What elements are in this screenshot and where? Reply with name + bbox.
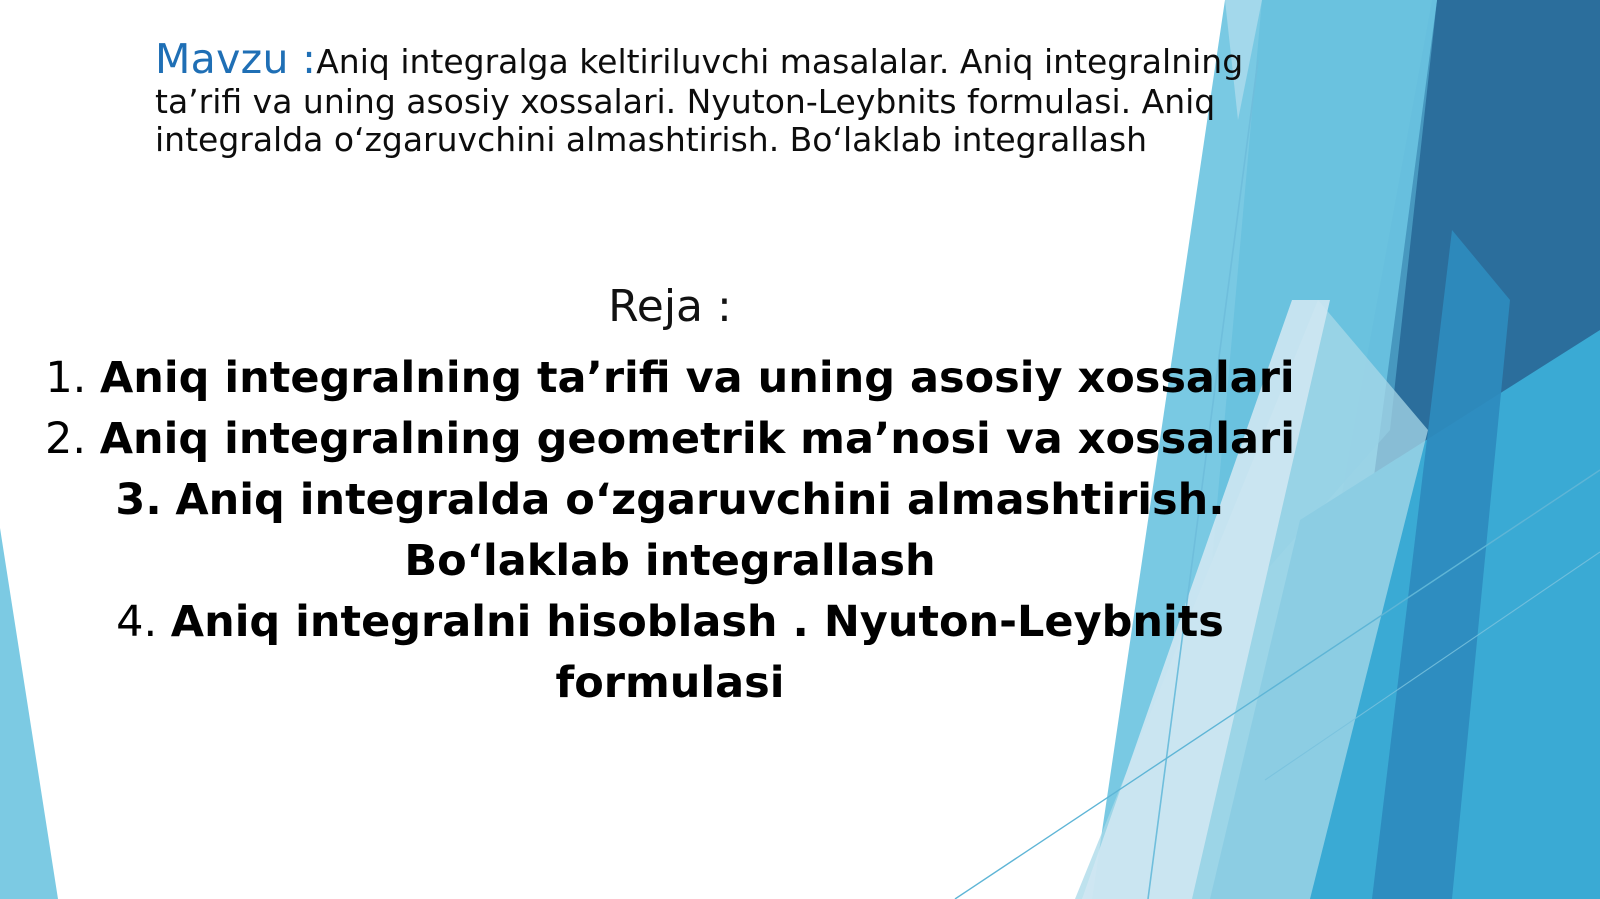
slide-title: Mavzu :Aniq integralga keltiriluvchi mas… <box>155 36 1290 159</box>
list-item-number: 3. <box>115 475 161 525</box>
list-item-number: 1. <box>45 353 86 403</box>
slide-content: Mavzu :Aniq integralga keltiriluvchi mas… <box>0 0 1600 899</box>
list-item-number: 4. <box>116 597 157 647</box>
list-item-text: Aniq integralni hisoblash . Nyuton-Leybn… <box>171 597 1224 708</box>
list-item: 3. Aniq integralda o‘zgaruvchini almasht… <box>0 470 1340 592</box>
list-item: 4. Aniq integralni hisoblash . Nyuton-Le… <box>0 592 1340 714</box>
list-item: 2. Aniq integralning geometrik ma’nosi v… <box>0 409 1340 470</box>
outline-heading: Reja : <box>0 283 1340 331</box>
title-topic-text: Aniq integralga keltiriluvchi masalalar.… <box>155 42 1243 159</box>
title-topic-label: Mavzu : <box>155 35 316 83</box>
list-item: 1. Aniq integralning ta’rifi va uning as… <box>0 348 1340 409</box>
presentation-slide: Mavzu :Aniq integralga keltiriluvchi mas… <box>0 0 1600 899</box>
list-item-text: Aniq integralda o‘zgaruvchini almashtiri… <box>175 475 1224 586</box>
list-item-number: 2. <box>45 414 86 464</box>
list-item-text: Aniq integralning geometrik ma’nosi va x… <box>100 414 1295 464</box>
list-item-text: Aniq integralning ta’rifi va uning asosi… <box>100 353 1295 403</box>
outline-list: 1. Aniq integralning ta’rifi va uning as… <box>0 348 1340 714</box>
